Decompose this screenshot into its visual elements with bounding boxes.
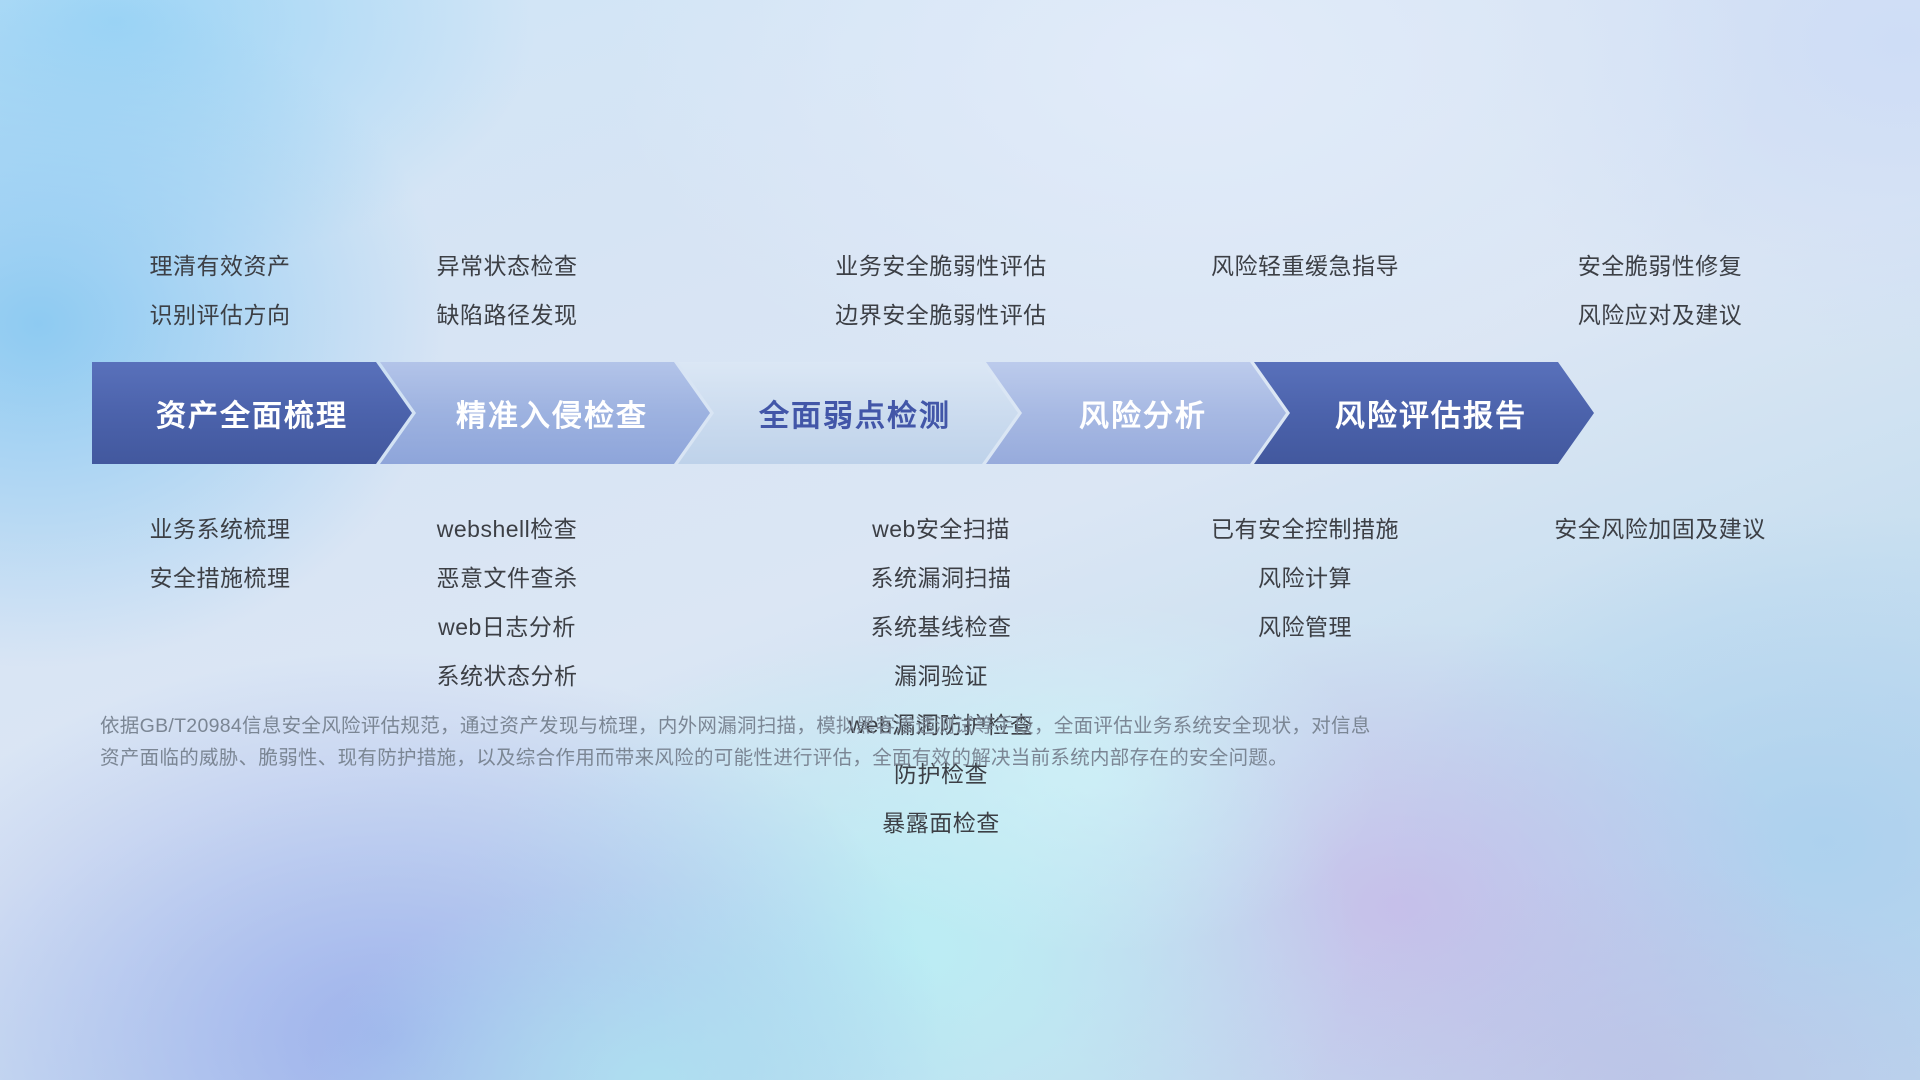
bottom-line: 系统状态分析 [347, 652, 667, 701]
bottom-line: 系统漏洞扫描 [781, 554, 1101, 603]
top-line: 边界安全脆弱性评估 [781, 291, 1101, 340]
bottom-line: 安全风险加固及建议 [1490, 505, 1830, 554]
top-line: 理清有效资产 [60, 242, 380, 291]
stage-arrow-weakness-detection[interactable]: 全面弱点检测 [678, 362, 1018, 464]
stage-arrow-label: 全面弱点检测 [745, 391, 951, 435]
stage-bottom-text-intrusion-check: webshell检查 恶意文件查杀 web日志分析 系统状态分析 [347, 505, 667, 701]
bottom-line: 系统基线检查 [781, 603, 1101, 652]
stage-top-text-risk-analysis: 风险轻重缓急指导 [1145, 242, 1465, 291]
stage-bottom-text-asset-inventory: 业务系统梳理 安全措施梳理 [60, 505, 380, 603]
bottom-line: web安全扫描 [781, 505, 1101, 554]
stage-arrow-label: 精准入侵检查 [442, 391, 648, 435]
process-diagram: 理清有效资产 识别评估方向 异常状态检查 缺陷路径发现 业务安全脆弱性评估 边界… [0, 0, 1920, 1080]
stage-arrow-risk-report[interactable]: 风险评估报告 [1254, 362, 1594, 464]
bottom-line: 已有安全控制措施 [1145, 505, 1465, 554]
top-line: 风险轻重缓急指导 [1145, 242, 1465, 291]
top-line: 缺陷路径发现 [347, 291, 667, 340]
footnote-description: 依据GB/T20984信息安全风险评估规范，通过资产发现与梳理，内外网漏洞扫描，… [100, 710, 1620, 774]
stage-arrow-band: 资产全面梳理 精准入侵检查 全面弱点检测 风险分析 风险评估报告 [0, 362, 1920, 464]
top-line: 风险应对及建议 [1500, 291, 1820, 340]
stage-top-text-risk-report: 安全脆弱性修复 风险应对及建议 [1500, 242, 1820, 340]
stage-arrow-label: 风险分析 [1065, 391, 1207, 435]
bottom-line: 安全措施梳理 [60, 554, 380, 603]
stage-arrow-intrusion-check[interactable]: 精准入侵检查 [380, 362, 710, 464]
top-line: 业务安全脆弱性评估 [781, 242, 1101, 291]
bottom-line: 漏洞验证 [781, 652, 1101, 701]
bottom-line: 业务系统梳理 [60, 505, 380, 554]
bottom-line: 风险管理 [1145, 603, 1465, 652]
top-line: 识别评估方向 [60, 291, 380, 340]
stage-arrow-asset-inventory[interactable]: 资产全面梳理 [92, 362, 412, 464]
stage-bottom-text-weakness-detection: web安全扫描 系统漏洞扫描 系统基线检查 漏洞验证 web漏洞防护检查 防护检… [781, 505, 1101, 848]
stage-top-text-asset-inventory: 理清有效资产 识别评估方向 [60, 242, 380, 340]
stage-arrow-label: 风险评估报告 [1321, 391, 1527, 435]
bottom-line: web日志分析 [347, 603, 667, 652]
bottom-line: 恶意文件查杀 [347, 554, 667, 603]
bottom-line: 风险计算 [1145, 554, 1465, 603]
top-line: 异常状态检查 [347, 242, 667, 291]
top-line: 安全脆弱性修复 [1500, 242, 1820, 291]
bottom-line: webshell检查 [347, 505, 667, 554]
footnote-line: 依据GB/T20984信息安全风险评估规范，通过资产发现与梳理，内外网漏洞扫描，… [100, 710, 1620, 742]
stage-bottom-text-risk-report: 安全风险加固及建议 [1490, 505, 1830, 554]
bottom-line: 暴露面检查 [781, 799, 1101, 848]
stage-top-text-weakness-detection: 业务安全脆弱性评估 边界安全脆弱性评估 [781, 242, 1101, 340]
footnote-line: 资产面临的威胁、脆弱性、现有防护措施，以及综合作用而带来风险的可能性进行评估，全… [100, 742, 1620, 774]
stage-arrow-label: 资产全面梳理 [156, 391, 348, 435]
stage-bottom-text-risk-analysis: 已有安全控制措施 风险计算 风险管理 [1145, 505, 1465, 652]
stage-arrow-risk-analysis[interactable]: 风险分析 [986, 362, 1286, 464]
stage-top-text-intrusion-check: 异常状态检查 缺陷路径发现 [347, 242, 667, 340]
